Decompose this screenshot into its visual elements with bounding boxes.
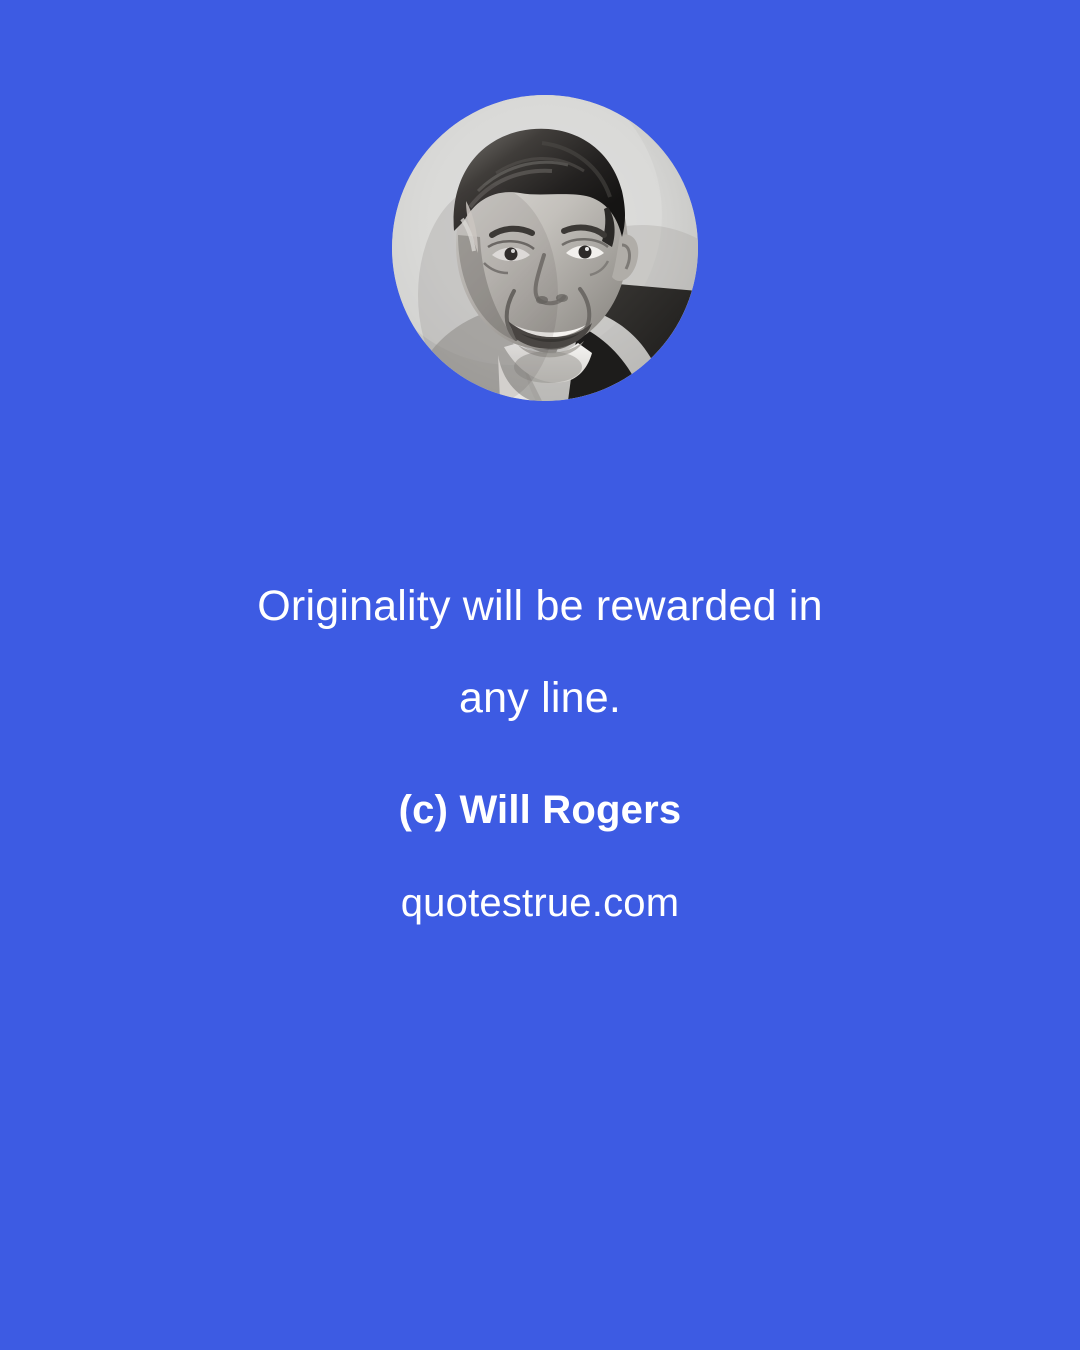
- quote-attribution: (c) Will Rogers: [0, 784, 1080, 836]
- quote-card: Originality will be rewarded in any line…: [0, 0, 1080, 1350]
- portrait-avatar: [392, 95, 698, 401]
- portrait-photo-icon: [392, 95, 698, 401]
- site-name[interactable]: quotestrue.com: [0, 877, 1080, 929]
- quote-line-2: any line.: [0, 652, 1080, 744]
- quote-line-1: Originality will be rewarded in: [0, 560, 1080, 652]
- quote-text-block: Originality will be rewarded in any line…: [0, 560, 1080, 929]
